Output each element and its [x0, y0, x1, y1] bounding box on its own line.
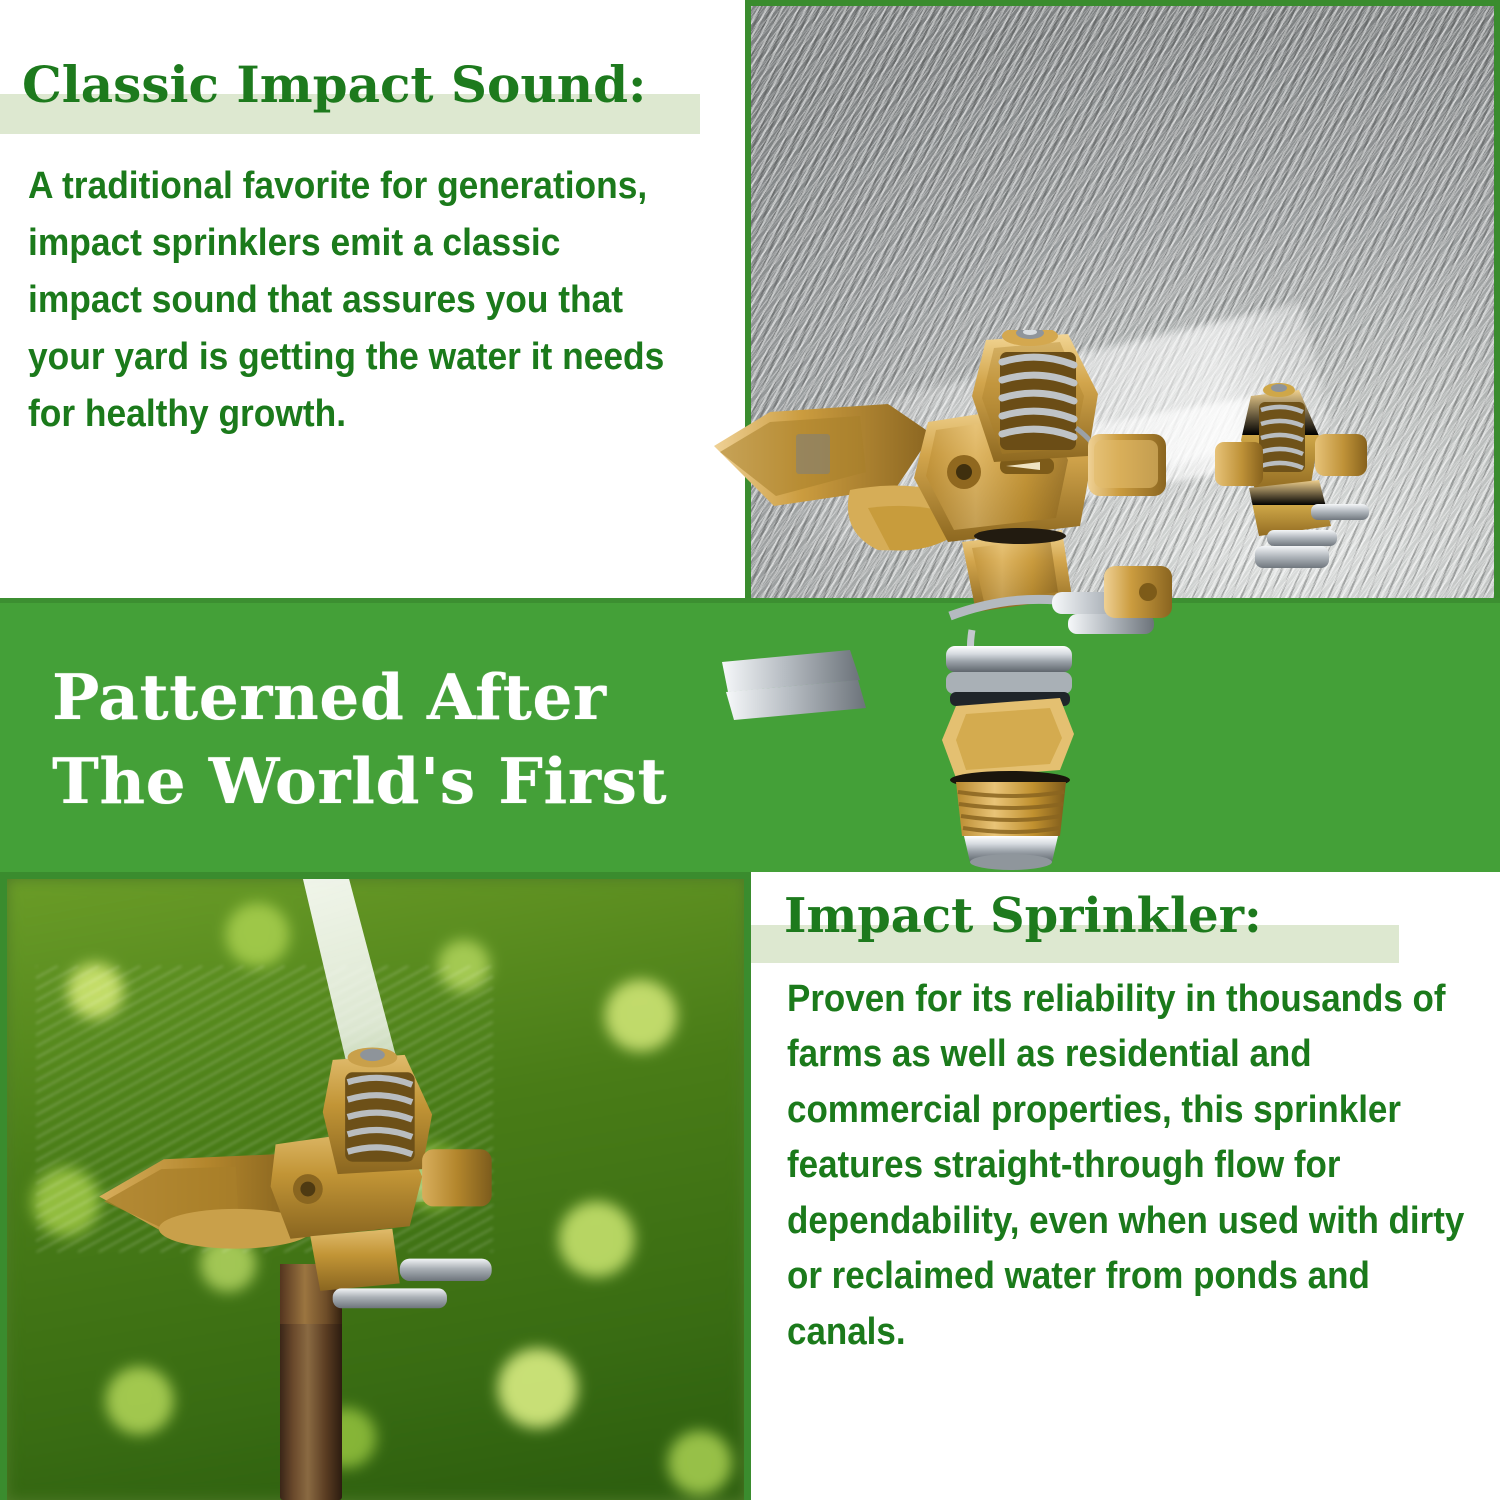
classic-impact-sound-body: A traditional favorite for generations, …	[28, 158, 679, 443]
sprinkler-photo-head-icon	[51, 1040, 537, 1326]
impact-sprinkler-heading: Impact Sprinkler:	[784, 892, 1262, 940]
impact-sprinkler-heading-wrap: Impact Sprinkler:	[751, 892, 1451, 954]
panel-classic-impact-sound: Classic Impact Sound: A traditional favo…	[0, 0, 745, 598]
classic-impact-sound-heading: Classic Impact Sound:	[22, 60, 647, 110]
garden-sprinkler-photo	[0, 872, 751, 1500]
impact-sprinkler-body: Proven for its reliability in thousands …	[787, 972, 1468, 1360]
infographic-canvas: Patterned After The World's First Classi…	[0, 0, 1500, 1500]
panel-impact-sprinkler: Impact Sprinkler: Proven for its reliabi…	[751, 872, 1500, 1500]
classic-impact-sound-heading-wrap: Classic Impact Sound:	[0, 60, 740, 126]
main-sprinkler-product-icon	[700, 330, 1280, 870]
